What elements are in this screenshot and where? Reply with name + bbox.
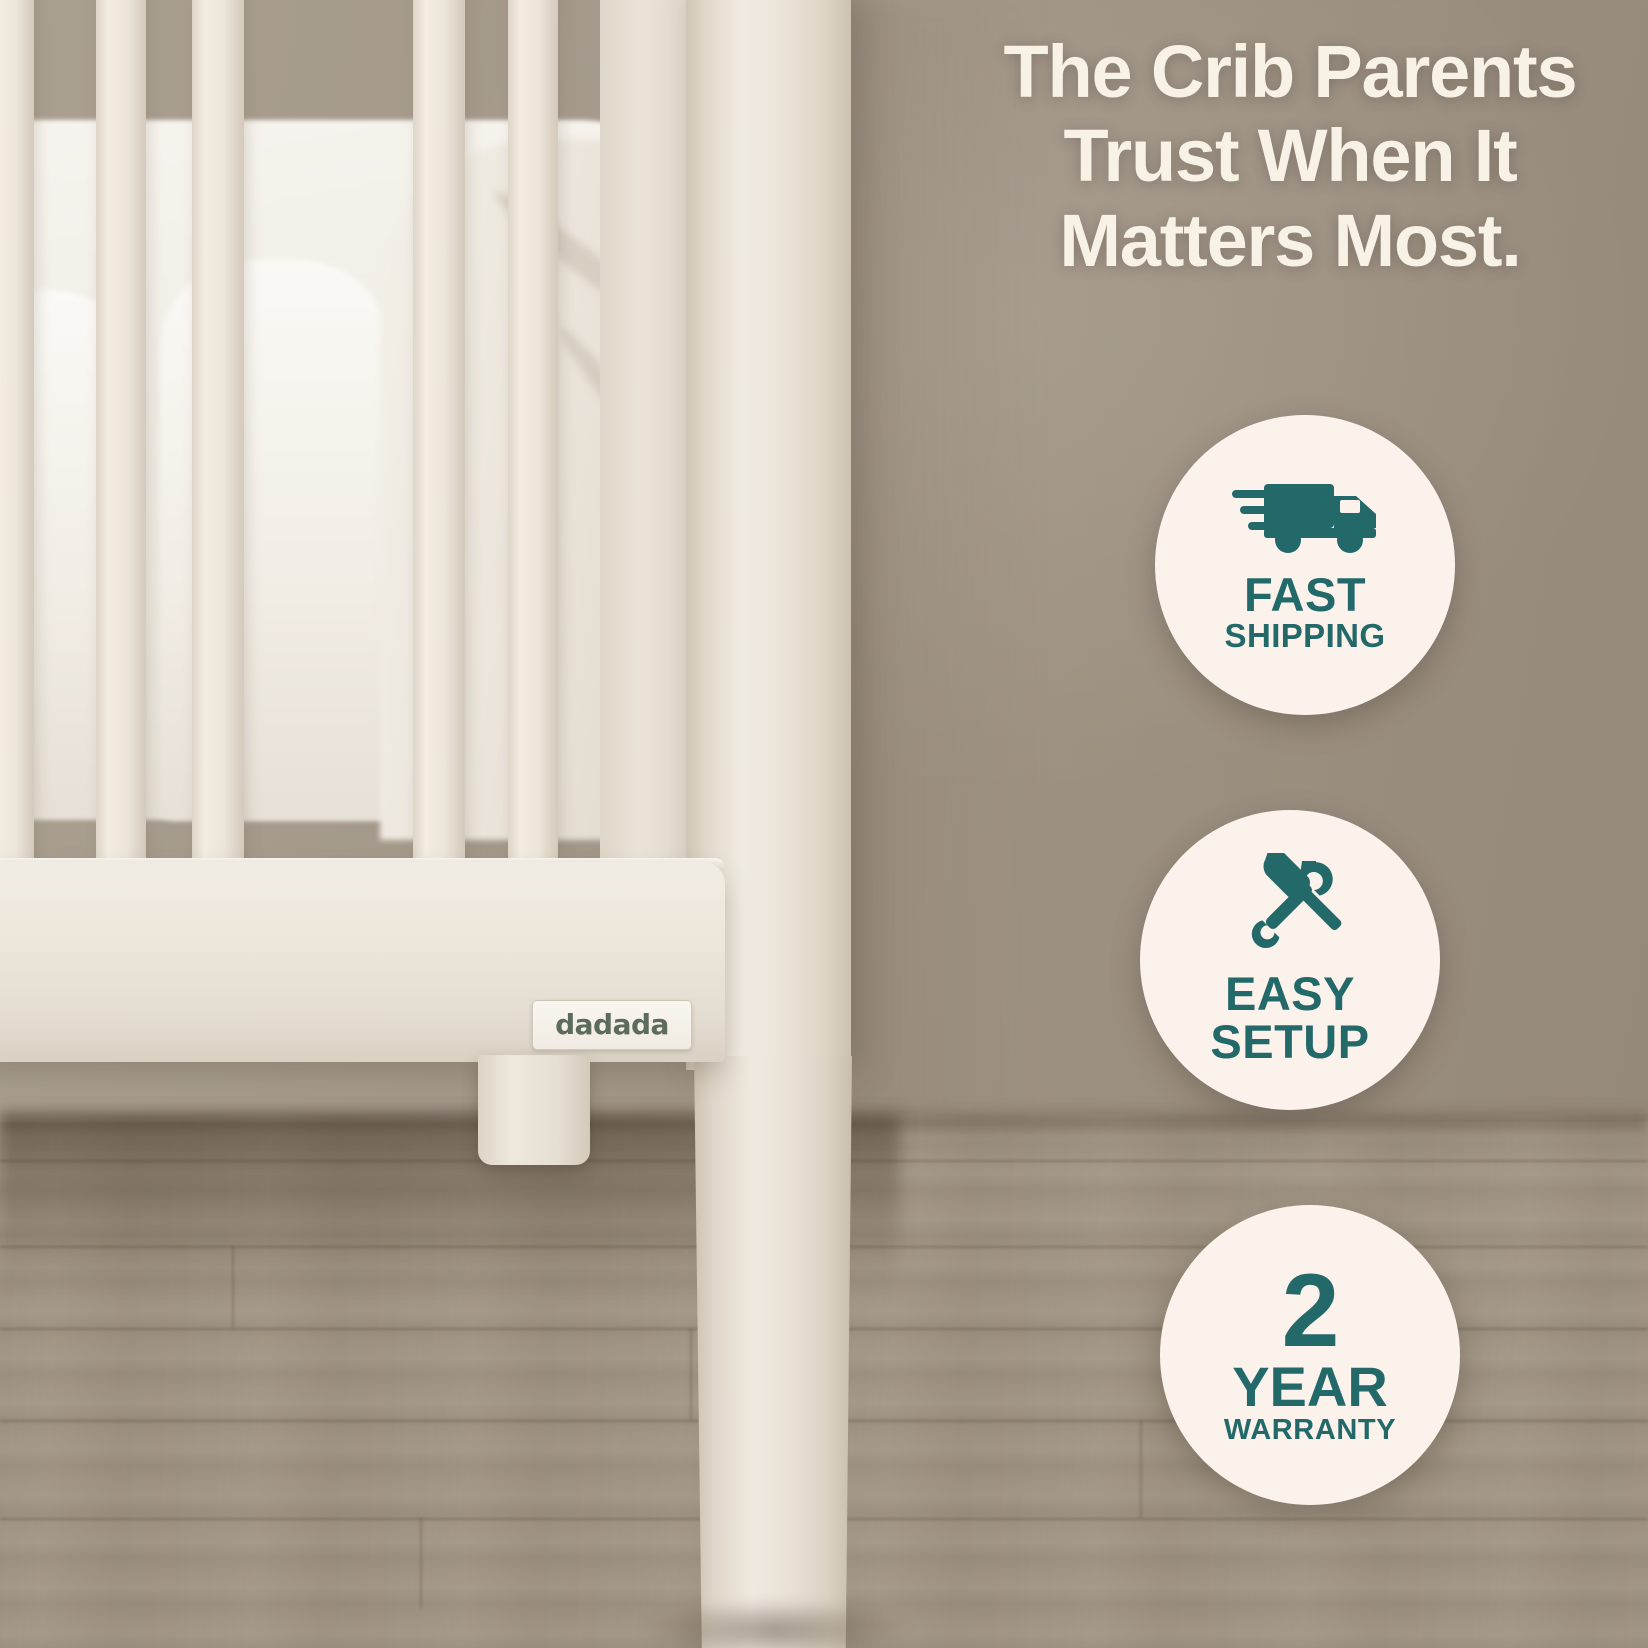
delivery-truck-icon xyxy=(1230,476,1380,567)
hammer-wrench-icon xyxy=(1231,853,1349,966)
headline-line-2: Trust When It xyxy=(940,114,1640,198)
floor-plank-joint xyxy=(1140,1420,1142,1518)
badge-fast-shipping: FAST SHIPPING xyxy=(1155,415,1455,715)
badge-label-secondary: SHIPPING xyxy=(1225,618,1386,654)
crib-slat xyxy=(0,0,34,875)
warranty-year-count: 2 xyxy=(1282,1264,1339,1360)
brand-logo-plate: dadada xyxy=(532,1000,692,1050)
badge-label-primary: EASY xyxy=(1225,970,1355,1017)
crib-leg-floor-shadow xyxy=(640,1600,910,1648)
crib-slat xyxy=(508,0,558,875)
headline: The Crib Parents Trust When It Matters M… xyxy=(940,30,1640,283)
badge-label-secondary: WARRANTY xyxy=(1224,1415,1396,1446)
crib-center-foot xyxy=(478,1055,590,1165)
badge-easy-setup: EASY SETUP xyxy=(1140,810,1440,1110)
brand-logo-text: dadada xyxy=(555,1011,669,1039)
crib-product: dadada xyxy=(0,0,900,1648)
product-feature-card: dadada The Crib Parents Trust When It Ma… xyxy=(0,0,1648,1648)
headline-line-1: The Crib Parents xyxy=(940,30,1640,114)
badge-label-secondary: SETUP xyxy=(1210,1017,1369,1068)
crib-slat xyxy=(96,0,146,875)
crib-leg xyxy=(694,1056,852,1648)
badge-label-primary: FAST xyxy=(1244,571,1366,618)
badge-label-primary: YEAR xyxy=(1232,1359,1388,1415)
crib-end-panel xyxy=(600,0,696,875)
headline-line-3: Matters Most. xyxy=(940,199,1640,283)
crib-slat xyxy=(413,0,465,875)
badge-warranty: 2 YEAR WARRANTY xyxy=(1160,1205,1460,1505)
crib-slat xyxy=(192,0,244,875)
